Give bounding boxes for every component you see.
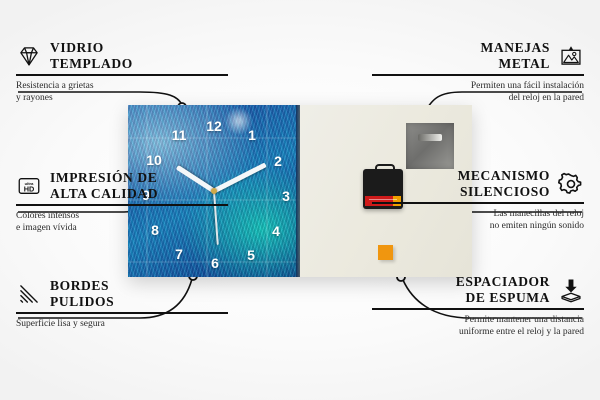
diamond-icon (16, 43, 42, 69)
gear-icon (558, 171, 584, 197)
feature-edges-title-line1: BORDES (50, 278, 114, 294)
feature-foam-title: ESPACIADOR DE ESPUMA (456, 274, 550, 305)
feature-foam-description: Permite mantener una distancia uniforme … (372, 314, 584, 340)
feature-glass: VIDRIO TEMPLADO Resistencia a grietas y … (16, 40, 228, 105)
clock-numeral: 6 (206, 256, 224, 270)
feature-mechanism-head: MECANISMO SILENCIOSO (372, 168, 584, 199)
feature-print-desc-line2: e imagen vívida (16, 222, 228, 235)
foam-spacer-icon (558, 277, 584, 303)
feature-glass-rule (16, 74, 228, 76)
feature-edges-desc-line1: Superficie lisa y segura (16, 318, 228, 331)
feature-print-title-line2: ALTA CALIDAD (50, 186, 158, 202)
clock-numeral: 3 (277, 189, 295, 203)
feature-mechanism-title: MECANISMO SILENCIOSO (458, 168, 550, 199)
feature-foam-desc-line1: Permite mantener una distancia (372, 314, 584, 327)
clock-numeral: 2 (269, 154, 287, 168)
feature-print-description: Colores intensos e imagen vívida (16, 210, 228, 236)
clock-numeral: 12 (205, 119, 223, 133)
feature-hangers-title: MANEJAS METAL (481, 40, 550, 71)
feature-edges-description: Superficie lisa y segura (16, 318, 228, 331)
feature-mechanism-title-line1: MECANISMO (458, 168, 550, 184)
svg-text:HD: HD (24, 184, 35, 193)
feature-foam-head: ESPACIADOR DE ESPUMA (372, 274, 584, 305)
feature-print-head: ultra HD IMPRESIÓN DE ALTA CALIDAD (16, 170, 228, 201)
clock-numeral: 11 (170, 128, 188, 142)
feature-mechanism-desc-line2: no emiten ningún sonido (372, 220, 584, 233)
feature-glass-description: Resistencia a grietas y rayones (16, 80, 228, 106)
feature-edges-head: BORDES PULIDOS (16, 278, 228, 309)
feature-foam-rule (372, 308, 584, 310)
feature-hangers-title-line2: METAL (481, 56, 550, 72)
foam-spacer (378, 245, 393, 260)
feature-edges-title: BORDES PULIDOS (50, 278, 114, 309)
metal-hanger (406, 123, 454, 169)
feature-mechanism: MECANISMO SILENCIOSO Las manecillas del … (372, 168, 584, 233)
feature-glass-head: VIDRIO TEMPLADO (16, 40, 228, 71)
feature-hangers-head: MANEJAS METAL (372, 40, 584, 71)
clock-numeral: 5 (242, 248, 260, 262)
ultra-hd-icon: ultra HD (16, 173, 42, 199)
feature-print: ultra HD IMPRESIÓN DE ALTA CALIDAD Color… (16, 170, 228, 235)
feature-hangers-desc-line1: Permiten una fácil instalación (372, 80, 584, 93)
feature-foam-desc-line2: uniforme entre el reloj y la pared (372, 326, 584, 339)
feature-glass-title: VIDRIO TEMPLADO (50, 40, 133, 71)
feature-edges-title-line2: PULIDOS (50, 294, 114, 310)
feature-foam: ESPACIADOR DE ESPUMA Permite mantener un… (372, 274, 584, 339)
feature-glass-title-line2: TEMPLADO (50, 56, 133, 72)
feature-mechanism-description: Las manecillas del reloj no emiten ningú… (372, 208, 584, 234)
feature-hangers: MANEJAS METAL Permiten una fácil instala… (372, 40, 584, 105)
feature-print-desc-line1: Colores intensos (16, 210, 228, 223)
feature-glass-title-line1: VIDRIO (50, 40, 133, 56)
feature-hangers-title-line1: MANEJAS (481, 40, 550, 56)
feature-print-title-line1: IMPRESIÓN DE (50, 170, 158, 186)
feature-edges-rule (16, 312, 228, 314)
feature-hangers-description: Permiten una fácil instalación del reloj… (372, 80, 584, 106)
clock-numeral: 4 (267, 224, 285, 238)
clock-numeral: 10 (145, 153, 163, 167)
feature-print-title: IMPRESIÓN DE ALTA CALIDAD (50, 170, 158, 201)
feature-mechanism-desc-line1: Las manecillas del reloj (372, 208, 584, 221)
feature-mechanism-rule (372, 202, 584, 204)
infographic-canvas: 12 1 2 3 4 5 6 7 8 9 10 11 (0, 0, 600, 400)
feature-hangers-rule (372, 74, 584, 76)
hanger-slot (418, 134, 442, 141)
feature-hangers-desc-line2: del reloj en la pared (372, 92, 584, 105)
polished-edge-icon (16, 281, 42, 307)
clock-numeral: 7 (170, 247, 188, 261)
picture-frame-icon (558, 43, 584, 69)
feature-print-rule (16, 204, 228, 206)
feature-glass-desc-line2: y rayones (16, 92, 228, 105)
feature-foam-title-line1: ESPACIADOR (456, 274, 550, 290)
feature-glass-desc-line1: Resistencia a grietas (16, 80, 228, 93)
feature-foam-title-line2: DE ESPUMA (456, 290, 550, 306)
feature-edges: BORDES PULIDOS Superficie lisa y segura (16, 278, 228, 330)
feature-mechanism-title-line2: SILENCIOSO (458, 184, 550, 200)
clock-numeral: 1 (243, 128, 261, 142)
